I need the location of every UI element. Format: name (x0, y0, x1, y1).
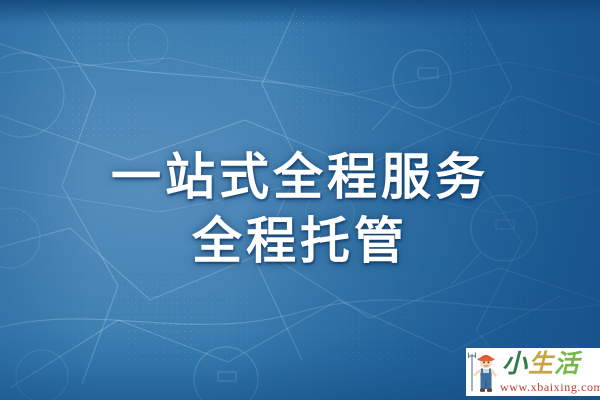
farmer-mascot-icon (467, 349, 501, 393)
watermark-url: www.xbaixing.com (500, 380, 600, 395)
promo-banner: 一站式全程服务 全程托管 (0, 0, 600, 400)
watermark-brand-chars: 小 生 活 (502, 348, 579, 378)
headline-line-1: 一站式全程服务 (0, 148, 600, 206)
watermark-char-1: 小 (502, 350, 527, 378)
watermark-char-3: 活 (554, 350, 579, 378)
watermark-logo: 小 生 活 www.xbaixing.com (466, 348, 600, 396)
top-band (0, 0, 600, 26)
headline: 一站式全程服务 全程托管 (0, 148, 600, 270)
watermark-char-2: 生 (528, 350, 553, 378)
headline-line-2: 全程托管 (0, 212, 600, 270)
